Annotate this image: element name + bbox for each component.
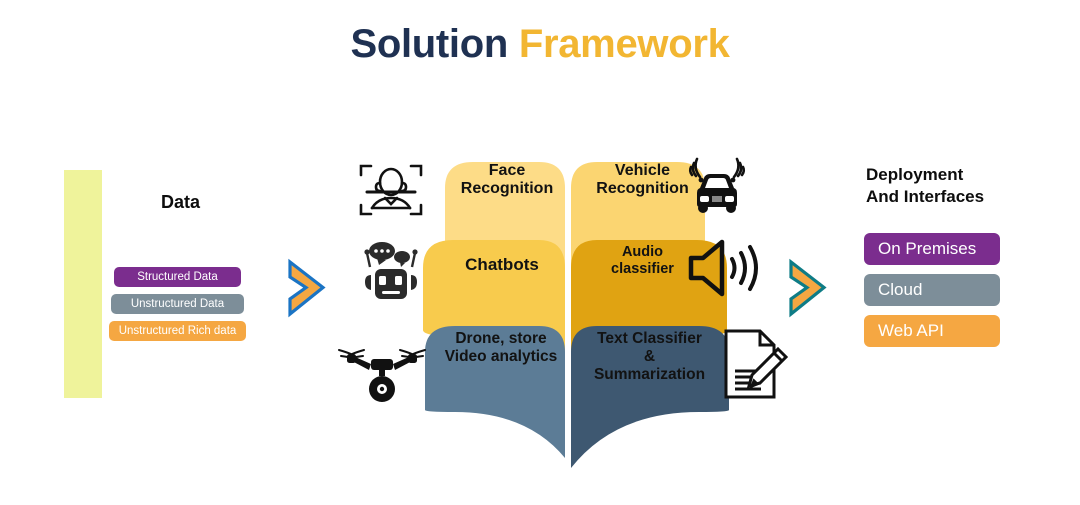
chevron-right-icon-right	[786, 258, 831, 323]
deployment-pill-cloud[interactable]: Cloud	[864, 274, 1000, 306]
page-title-accent: Framework	[519, 22, 730, 66]
data-sources-band	[64, 170, 102, 398]
data-heading: Data	[118, 192, 243, 213]
page-title-primary: Solution	[350, 22, 518, 66]
data-sources-label: Data Sources	[0, 75, 7, 303]
data-pill-unstructured[interactable]: Unstructured Data	[111, 294, 244, 314]
document-pencil-icon	[718, 327, 792, 408]
page-title: Solution Framework	[0, 22, 1080, 67]
robot-icon	[357, 237, 425, 310]
face-recognition-icon	[355, 157, 427, 228]
deployment-pill-web-api[interactable]: Web API	[864, 315, 1000, 347]
deployment-heading: Deployment And Interfaces	[866, 164, 1056, 208]
petal-shape-drone	[425, 326, 565, 458]
data-pill-structured[interactable]: Structured Data	[114, 267, 241, 287]
petal-shape-text	[571, 326, 729, 468]
drone-icon	[337, 337, 427, 412]
deployment-pill-on-premises[interactable]: On Premises	[864, 233, 1000, 265]
data-pill-unstructured-rich[interactable]: Unstructured Rich data	[109, 321, 246, 341]
speaker-icon	[686, 238, 762, 303]
connected-car-icon	[684, 157, 750, 228]
chevron-right-icon-left	[285, 258, 330, 323]
